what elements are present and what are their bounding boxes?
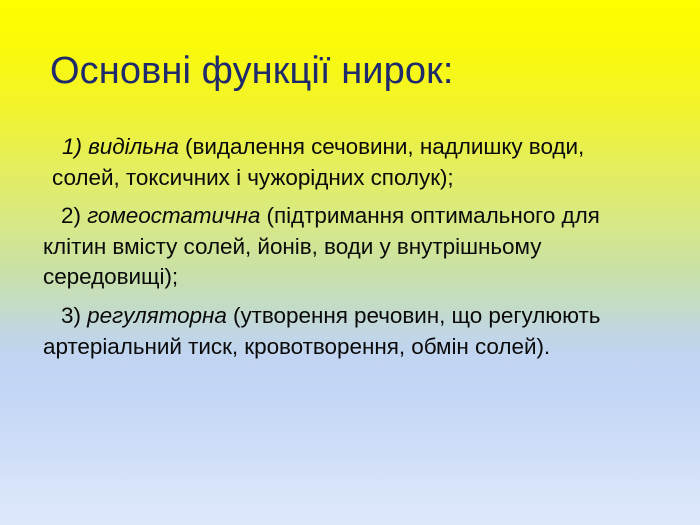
list-item-term: видільна [82, 134, 179, 159]
list-item-term: гомеостатична [81, 203, 260, 228]
list-item: 2) гомеостатична (підтримання оптимально… [43, 201, 627, 293]
content-list: 1) видільна (видалення сечовини, надлишк… [0, 132, 700, 362]
list-item-marker: 2) [61, 203, 81, 228]
list-item: 3) регуляторна (утворення речовин, що ре… [43, 301, 627, 362]
list-item-term: регуляторна [81, 303, 227, 328]
list-item-marker: 3) [61, 303, 81, 328]
slide-canvas: Основні функції нирок: 1) видільна (вида… [0, 0, 700, 525]
page-title: Основні функції нирок: [50, 48, 670, 94]
list-item-marker: 1) [62, 134, 82, 159]
list-item: 1) видільна (видалення сечовини, надлишк… [52, 132, 618, 193]
